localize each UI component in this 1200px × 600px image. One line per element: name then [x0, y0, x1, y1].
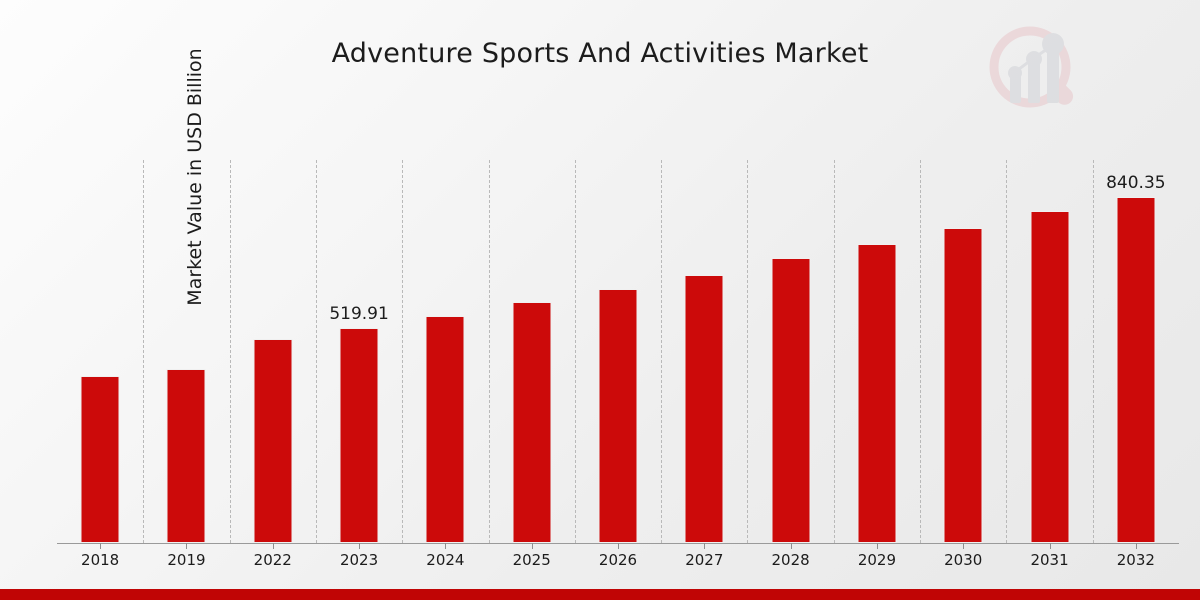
x-tick-label-2027: 2027: [685, 551, 723, 569]
bar-slot: [575, 160, 661, 543]
x-tick-label-2029: 2029: [858, 551, 896, 569]
bar-2029[interactable]: [857, 244, 896, 543]
x-tick-mark: [963, 543, 964, 549]
plot-area: 519.91840.35: [57, 160, 1179, 543]
bar-2025[interactable]: [512, 302, 551, 543]
x-tick-mark: [273, 543, 274, 549]
chart-figure: Adventure Sports And Activities Market M…: [0, 0, 1200, 600]
bar-2030[interactable]: [944, 228, 983, 543]
x-axis-ticks: 2018201920222023202420252026202720282029…: [57, 543, 1179, 573]
x-tick-label-2024: 2024: [426, 551, 464, 569]
bar-2031[interactable]: [1030, 211, 1069, 543]
x-tick-mark: [704, 543, 705, 549]
bar-2024[interactable]: [426, 316, 465, 543]
x-tick-label-2026: 2026: [599, 551, 637, 569]
bar-slot: [57, 160, 143, 543]
x-tick-mark: [877, 543, 878, 549]
x-tick-mark: [1136, 543, 1137, 549]
x-tick-mark: [532, 543, 533, 549]
bar-slot: [143, 160, 229, 543]
bar-2023[interactable]: [340, 328, 379, 543]
bar-slot: [747, 160, 833, 543]
bar-slot: [489, 160, 575, 543]
y-axis-title: Market Value in USD Billion: [0, 0, 34, 194]
bar-value-label-2023: 519.91: [329, 304, 388, 324]
bar-2026[interactable]: [598, 289, 637, 543]
bar-2028[interactable]: [771, 258, 810, 543]
x-tick-label-2022: 2022: [254, 551, 292, 569]
x-tick-mark: [618, 543, 619, 549]
bar-series: 519.91840.35: [57, 160, 1179, 543]
bar-2019[interactable]: [167, 369, 206, 543]
x-tick-label-2028: 2028: [772, 551, 810, 569]
bar-slot: 519.91: [316, 160, 402, 543]
x-tick-label-2032: 2032: [1117, 551, 1155, 569]
x-tick-mark: [791, 543, 792, 549]
market-research-magnifier-logo: [985, 22, 1085, 122]
x-tick-mark: [186, 543, 187, 549]
bar-slot: [402, 160, 488, 543]
bar-slot: [834, 160, 920, 543]
x-tick-mark: [359, 543, 360, 549]
x-tick-mark: [445, 543, 446, 549]
bar-slot: [1006, 160, 1092, 543]
bar-value-label-2032: 840.35: [1106, 173, 1165, 193]
bar-slot: 840.35: [1093, 160, 1179, 543]
x-tick-label-2030: 2030: [944, 551, 982, 569]
bar-2027[interactable]: [685, 275, 724, 543]
bar-slot: [661, 160, 747, 543]
x-tick-label-2018: 2018: [81, 551, 119, 569]
bar-slot: [230, 160, 316, 543]
bar-2022[interactable]: [253, 339, 292, 543]
x-tick-label-2031: 2031: [1030, 551, 1068, 569]
bar-2018[interactable]: [81, 376, 120, 543]
x-tick-mark: [100, 543, 101, 549]
x-tick-label-2023: 2023: [340, 551, 378, 569]
bar-slot: [920, 160, 1006, 543]
x-tick-label-2019: 2019: [167, 551, 205, 569]
x-tick-label-2025: 2025: [513, 551, 551, 569]
footer-accent-bar: [0, 589, 1200, 600]
x-tick-mark: [1050, 543, 1051, 549]
bar-2032[interactable]: [1116, 197, 1155, 543]
